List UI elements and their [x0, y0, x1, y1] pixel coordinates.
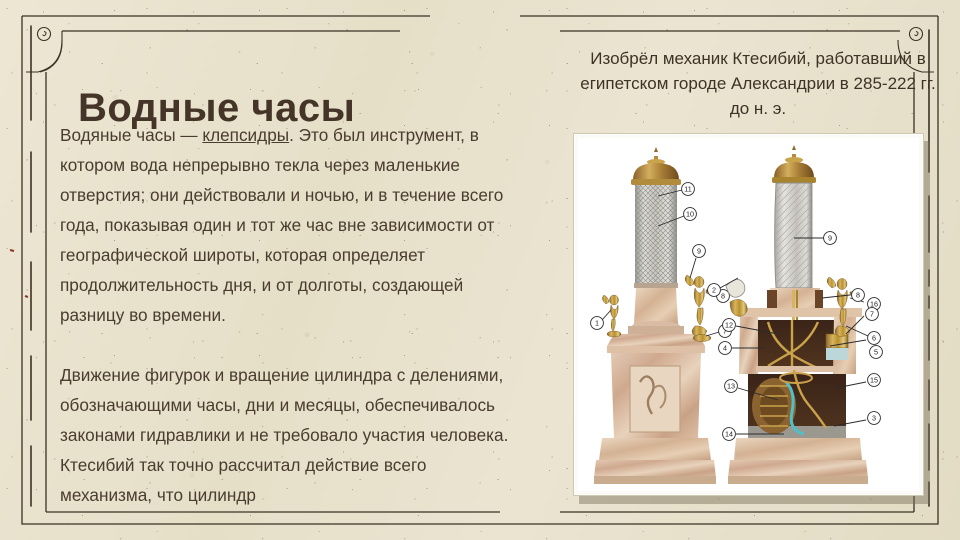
page-title: Водные часы — [78, 87, 378, 129]
svg-text:4: 4 — [723, 344, 727, 353]
figure-canvas: 11 10 9 8 7 1 — [578, 138, 919, 491]
water-clock-diagram: 11 10 9 8 7 1 — [578, 138, 919, 491]
svg-text:9: 9 — [697, 247, 701, 256]
svg-text:5: 5 — [874, 348, 878, 357]
svg-text:3: 3 — [872, 414, 876, 423]
svg-text:6: 6 — [872, 334, 876, 343]
slide-canvas: Водные часы Водяные часы — клепсидры. Эт… — [0, 0, 960, 540]
figure-mat: 11 10 9 8 7 1 — [573, 133, 924, 496]
svg-text:7: 7 — [870, 310, 874, 319]
water-clock-figure[interactable]: 11 10 9 8 7 1 — [573, 133, 930, 504]
svg-text:15: 15 — [870, 376, 878, 385]
paragraph-1: Водяные часы — клепсидры. Это был инстру… — [60, 120, 520, 330]
svg-text:8: 8 — [721, 292, 725, 301]
svg-text:10: 10 — [686, 210, 694, 219]
svg-text:2: 2 — [712, 286, 716, 295]
svg-text:8: 8 — [856, 291, 860, 300]
svg-text:9: 9 — [828, 234, 832, 243]
svg-text:11: 11 — [684, 185, 691, 194]
body-text-block: Водяные часы — клепсидры. Это был инстру… — [60, 120, 520, 540]
paragraph-2: Движение фигурок и вращение цилиндра с д… — [60, 360, 520, 510]
svg-text:1: 1 — [595, 319, 599, 328]
image-caption: Изобрёл механик Ктесибий, работавший в е… — [572, 46, 944, 121]
svg-text:12: 12 — [725, 321, 733, 330]
svg-text:14: 14 — [725, 430, 733, 439]
svg-text:13: 13 — [727, 382, 735, 391]
paragraph-1-post: . Это был инструмент, в котором вода неп… — [60, 125, 503, 325]
